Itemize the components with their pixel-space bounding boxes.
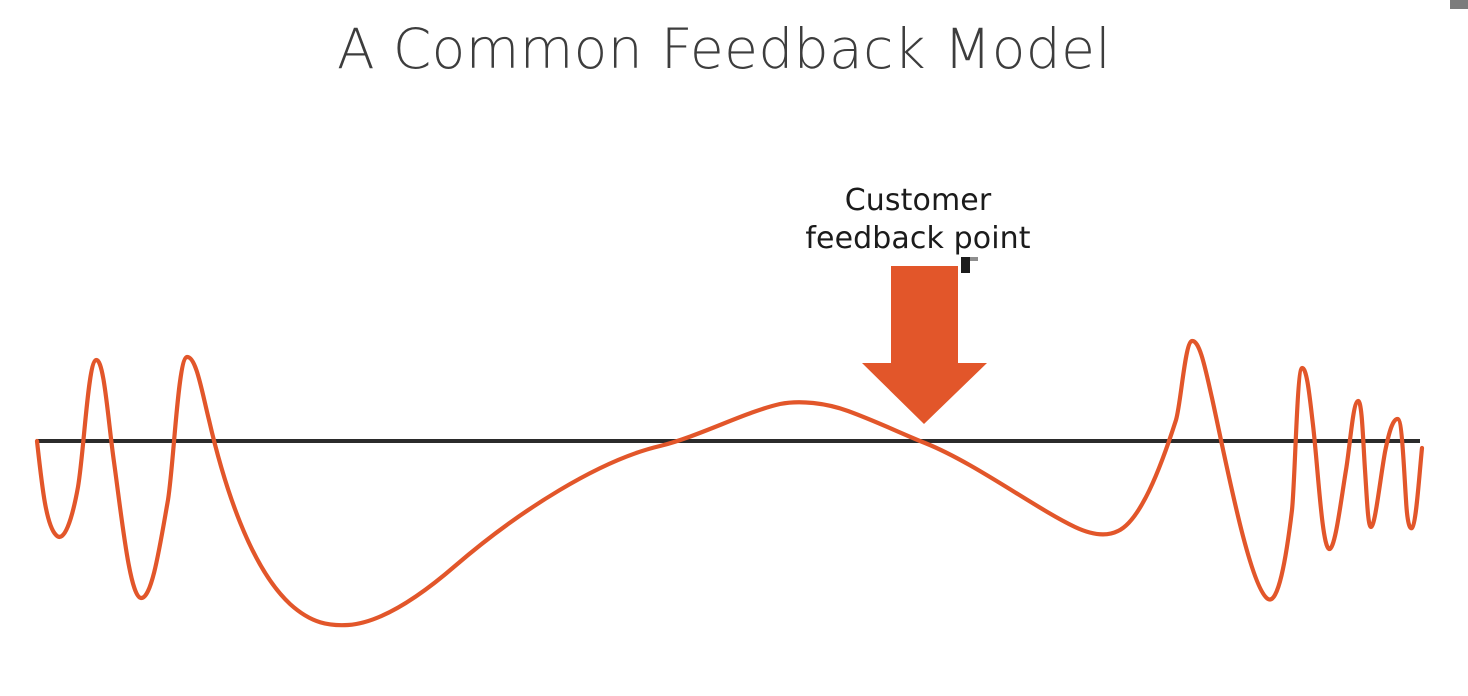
- signal-curve: [37, 341, 1422, 625]
- slide-canvas: A Common Feedback Model Customer feedbac…: [0, 0, 1468, 696]
- cursor-artifact: [961, 257, 970, 273]
- down-arrow-icon: [862, 266, 987, 424]
- feedback-model-figure: [0, 0, 1468, 696]
- corner-artifact: [1450, 0, 1468, 9]
